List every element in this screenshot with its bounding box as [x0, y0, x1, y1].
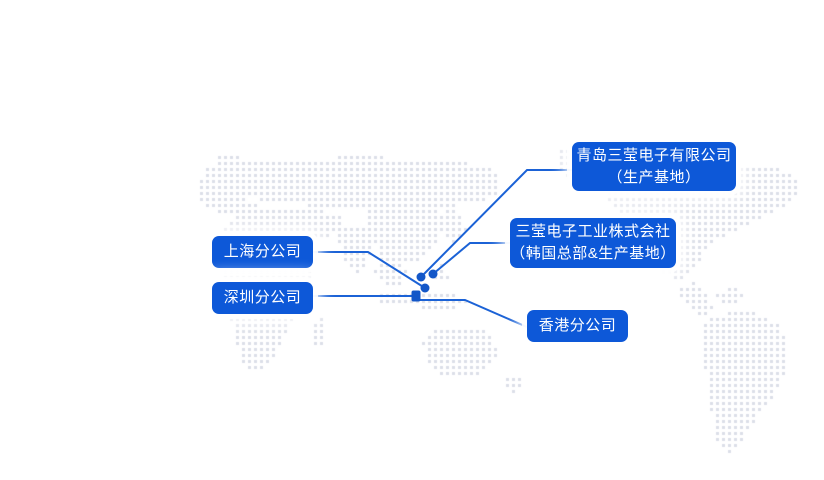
label-shanghai[interactable]: 上海分公司 [212, 236, 313, 268]
label-qingdao-line2: （生产基地） [607, 167, 700, 189]
node-shanghai[interactable] [421, 284, 430, 293]
label-shenzhen-line1: 深圳分公司 [224, 287, 302, 309]
world-map-background [0, 0, 824, 480]
label-hongkong[interactable]: 香港分公司 [527, 310, 628, 342]
label-qingdao-line1: 青岛三莹电子有限公司 [576, 145, 731, 167]
label-korea-line2: （韩国总部&生产基地） [510, 243, 676, 265]
map-infographic: 青岛三莹电子有限公司 （生产基地） 三莹电子工业株式会社 （韩国总部&生产基地）… [0, 0, 824, 480]
label-korea-line1: 三莹电子工业株式会社 [515, 221, 670, 243]
node-shenzhen[interactable] [412, 291, 421, 302]
label-hongkong-line1: 香港分公司 [539, 315, 617, 337]
label-qingdao[interactable]: 青岛三莹电子有限公司 （生产基地） [572, 142, 736, 191]
label-shanghai-line1: 上海分公司 [224, 241, 302, 263]
world-map-dots [0, 0, 824, 480]
node-korea[interactable] [429, 270, 438, 279]
node-qingdao[interactable] [417, 273, 426, 282]
label-shenzhen[interactable]: 深圳分公司 [212, 282, 313, 314]
label-korea[interactable]: 三莹电子工业株式会社 （韩国总部&生产基地） [510, 218, 676, 268]
